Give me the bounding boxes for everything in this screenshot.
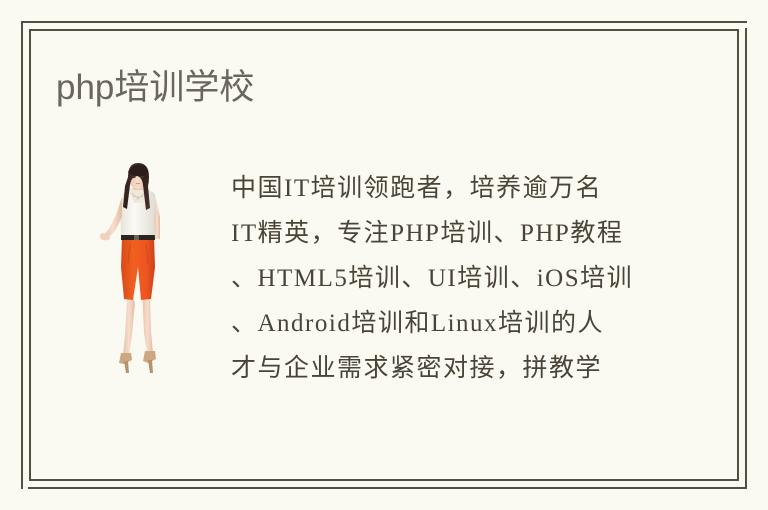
slide-canvas: php培训学校 bbox=[0, 0, 768, 510]
body-line: 、HTML5培训、UI培训、iOS培训 bbox=[231, 256, 655, 301]
frame-top-rule bbox=[29, 21, 747, 23]
body-line: IT精英，专注PHP培训、PHP教程 bbox=[231, 211, 655, 256]
body-line: 中国IT培训领跑者，培养逾万名 bbox=[231, 166, 655, 211]
frame-left-rule bbox=[21, 21, 23, 489]
body-line: 、Android培训和Linux培训的人 bbox=[231, 301, 655, 346]
body-copy: 中国IT培训领跑者，培养逾万名 IT精英，专注PHP培训、PHP教程 、HTML… bbox=[231, 166, 655, 391]
page-title: php培训学校 bbox=[56, 66, 254, 110]
model-photo bbox=[98, 163, 178, 377]
body-line: 才与企业需求紧密对接，拼教学 bbox=[231, 346, 655, 391]
